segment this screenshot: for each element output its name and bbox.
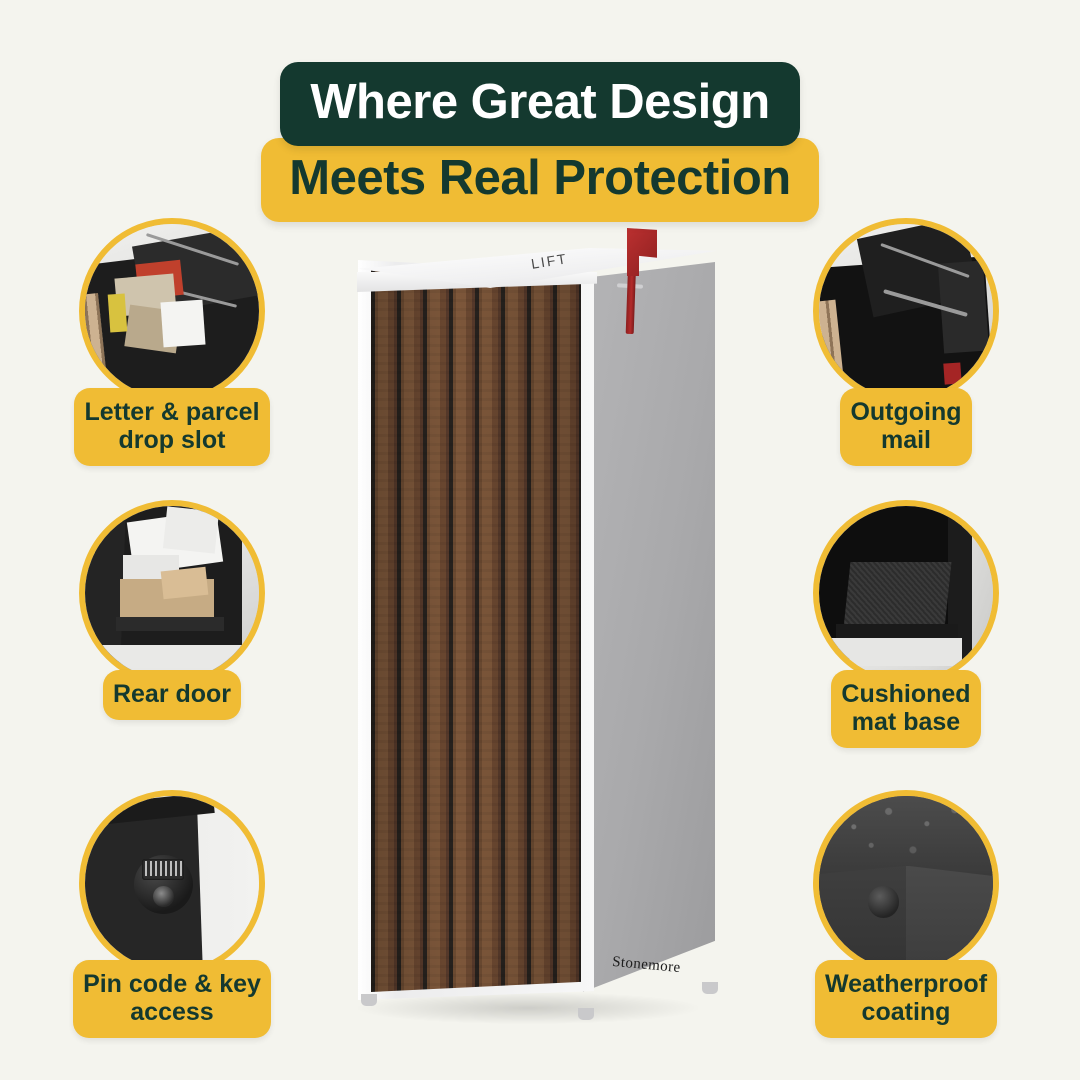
- callout-photo-pin-code-key-access: [79, 790, 265, 976]
- left-side-panel: [819, 866, 909, 970]
- callout-label-weatherproof-coating: Weatherproof coating: [815, 960, 997, 1038]
- headline-line-2: Meets Real Protection: [261, 138, 818, 222]
- callout-photo-weatherproof-coating: [813, 790, 999, 976]
- callout-label-line: mail: [850, 426, 961, 454]
- callout-label-line: drop slot: [84, 426, 259, 454]
- callout-label-letter-parcel-drop-slot: Letter & parcel drop slot: [74, 388, 269, 466]
- callout-label-line: Cushioned: [841, 680, 970, 708]
- kraft-envelope: [160, 566, 208, 598]
- white-poly-mailer-2: [163, 507, 219, 554]
- callout-label-line: access: [83, 998, 261, 1026]
- callout-label-line: mat base: [841, 708, 970, 736]
- door-sill: [116, 617, 224, 631]
- outgoing-mail-flag-icon[interactable]: [627, 228, 657, 276]
- callout-label-line: coating: [825, 998, 987, 1026]
- callout-weatherproof-coating: Weatherproof coating: [806, 790, 1006, 1038]
- callout-rear-door: Rear door: [72, 500, 272, 720]
- wood-grain-overlay: [371, 270, 581, 992]
- callout-outgoing-mail: Outgoing mail: [806, 218, 1006, 466]
- base-lip: [836, 624, 958, 638]
- product-mailbox: Stonemore LIFT: [330, 222, 750, 1052]
- cushioned-rubber-mat: [843, 562, 951, 628]
- callout-pin-code-key-access: Pin code & key access: [72, 790, 272, 1038]
- callout-letter-parcel-drop-slot: Letter & parcel drop slot: [72, 218, 272, 466]
- headline-line-1: Where Great Design: [280, 62, 799, 146]
- callout-photo-outgoing-mail: [813, 218, 999, 404]
- callout-photo-letter-parcel-drop-slot: [79, 218, 265, 404]
- headline-line-2-row: Meets Real Protection: [0, 146, 1080, 222]
- mailbox-foot-right: [702, 982, 718, 994]
- mailbox-foot-center: [578, 1008, 594, 1020]
- mailbox-foot-left: [361, 994, 377, 1006]
- headline-line-1-row: Where Great Design: [0, 62, 1080, 146]
- key-cylinder: [153, 886, 174, 907]
- headline-block: Where Great Design Meets Real Protection: [0, 62, 1080, 222]
- promo-canvas: Where Great Design Meets Real Protection…: [0, 0, 1080, 1080]
- base-floor: [829, 638, 961, 666]
- callout-label-line: Pin code & key: [83, 970, 261, 998]
- flag-glimpse: [944, 363, 963, 385]
- right-side-panel: [906, 866, 993, 970]
- callout-label-outgoing-mail: Outgoing mail: [840, 388, 971, 466]
- callout-label-line: Rear door: [113, 680, 231, 708]
- white-envelope: [160, 299, 205, 347]
- callout-cushioned-mat-base: Cushioned mat base: [806, 500, 1006, 748]
- callout-label-line: Weatherproof: [825, 970, 987, 998]
- callout-label-line: Outgoing: [850, 398, 961, 426]
- yellow-mailer: [108, 293, 128, 332]
- mailbox-wood-slat-front: [371, 270, 581, 992]
- lock-knob: [868, 886, 899, 917]
- callout-label-rear-door: Rear door: [103, 670, 241, 720]
- lid-top-with-water-beads: [819, 796, 993, 873]
- mailbox-side-panel: [583, 262, 715, 992]
- callout-label-pin-code-key-access: Pin code & key access: [73, 960, 271, 1038]
- callout-label-cushioned-mat-base: Cushioned mat base: [831, 670, 980, 748]
- keypad-buttons: [145, 861, 182, 876]
- callout-label-line: Letter & parcel: [84, 398, 259, 426]
- callout-photo-rear-door: [79, 500, 265, 686]
- callout-photo-cushioned-mat-base: [813, 500, 999, 686]
